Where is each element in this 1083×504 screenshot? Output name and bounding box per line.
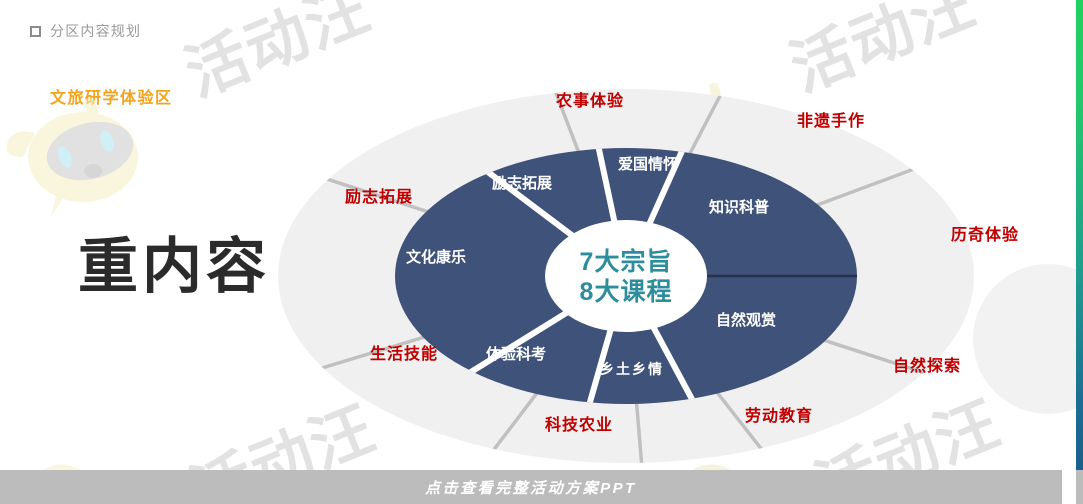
cta-bar-label: 点击查看完整活动方案PPT — [0, 477, 1062, 498]
center-hub — [545, 220, 707, 332]
mascot-watermark — [0, 95, 165, 225]
center-line-2: 8大课程 — [580, 278, 673, 306]
outer-label: 劳动教育 — [745, 402, 813, 426]
outer-label: 历奇体验 — [951, 221, 1019, 245]
segment-label: 文化康乐 — [406, 248, 466, 266]
segment-label: 知识科普 — [709, 198, 769, 216]
segment-label: 励志拓展 — [492, 174, 552, 192]
section-heading: 重内容 — [78, 218, 270, 305]
outer-label: 励志拓展 — [345, 183, 413, 207]
outer-label: 生活技能 — [370, 340, 438, 364]
zone-label: 文旅研学体验区 — [50, 84, 173, 108]
center-line-1: 7大宗旨 — [580, 247, 673, 276]
page-title: 分区内容规划 — [50, 21, 141, 41]
breadcrumb: 分区内容规划 — [30, 21, 141, 41]
outer-label: 非遗手作 — [797, 107, 865, 131]
right-gradient-rail — [1076, 0, 1083, 470]
segment-label: 体验科考 — [486, 345, 546, 363]
segment-label: 爱国情怀 — [618, 155, 678, 173]
segment-label: 乡土乡情 — [600, 361, 664, 377]
cta-bar[interactable]: 点击查看完整活动方案PPT — [0, 470, 1062, 504]
slide-canvas: 分区内容规划 文旅研学体验区 重内容 — [0, 0, 1083, 504]
radial-diagram: 爱国情怀 励志拓展 文化康乐 体验科考 乡土乡情 知识科普 自然观赏 7大宗旨 … — [276, 86, 976, 466]
segment-label: 自然观赏 — [716, 311, 776, 329]
outer-label: 农事体验 — [556, 87, 624, 111]
decorative-circle — [973, 264, 1083, 414]
outer-label: 科技农业 — [545, 411, 613, 435]
right-rail-foot — [1076, 470, 1083, 504]
outer-label: 自然探索 — [893, 352, 961, 376]
square-bullet-icon — [30, 26, 41, 37]
